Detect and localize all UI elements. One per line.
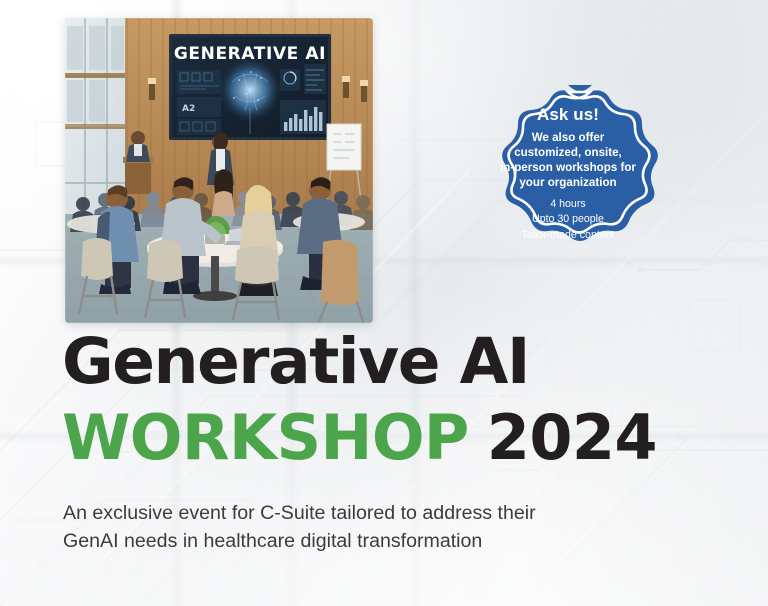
badge-body-line-1: We also offer [500, 130, 636, 145]
badge-body-line-3: in-person workshops for [500, 160, 636, 175]
badge-body: We also offer customized, onsite, in-per… [500, 130, 636, 190]
subtitle-block: An exclusive event for C-Suite tailored … [63, 500, 703, 556]
subtitle-line-2: GenAI needs in healthcare digital transf… [63, 528, 703, 556]
headline-year: 2024 [487, 401, 657, 474]
badge-body-line-2: customized, onsite, [500, 145, 636, 160]
badge-text-block: Ask us! We also offer customized, onsite… [476, 83, 660, 265]
badge-meta-duration: 4 hours [521, 197, 614, 212]
conference-photo: GENERATIVE AI A2 [65, 18, 373, 323]
badge-meta-capacity: Upto 30 people [521, 212, 614, 227]
badge-body-line-4: your organization [500, 175, 636, 190]
headline-workshop-word: WORKSHOP [62, 401, 469, 474]
headline-line-2: WORKSHOP2024 [62, 407, 722, 469]
headline-line-1: Generative AI [62, 330, 722, 393]
poster-canvas: GENERATIVE AI A2 [0, 0, 768, 606]
badge-title: Ask us! [537, 105, 599, 125]
headline-block: Generative AI WORKSHOP2024 [62, 330, 722, 469]
ask-us-badge[interactable]: Ask us! We also offer customized, onsite… [476, 83, 660, 265]
badge-meta: 4 hours Upto 30 people Tailor-made conte… [521, 197, 614, 242]
badge-meta-content: Tailor-made content [521, 228, 614, 243]
subtitle-line-1: An exclusive event for C-Suite tailored … [63, 500, 703, 528]
